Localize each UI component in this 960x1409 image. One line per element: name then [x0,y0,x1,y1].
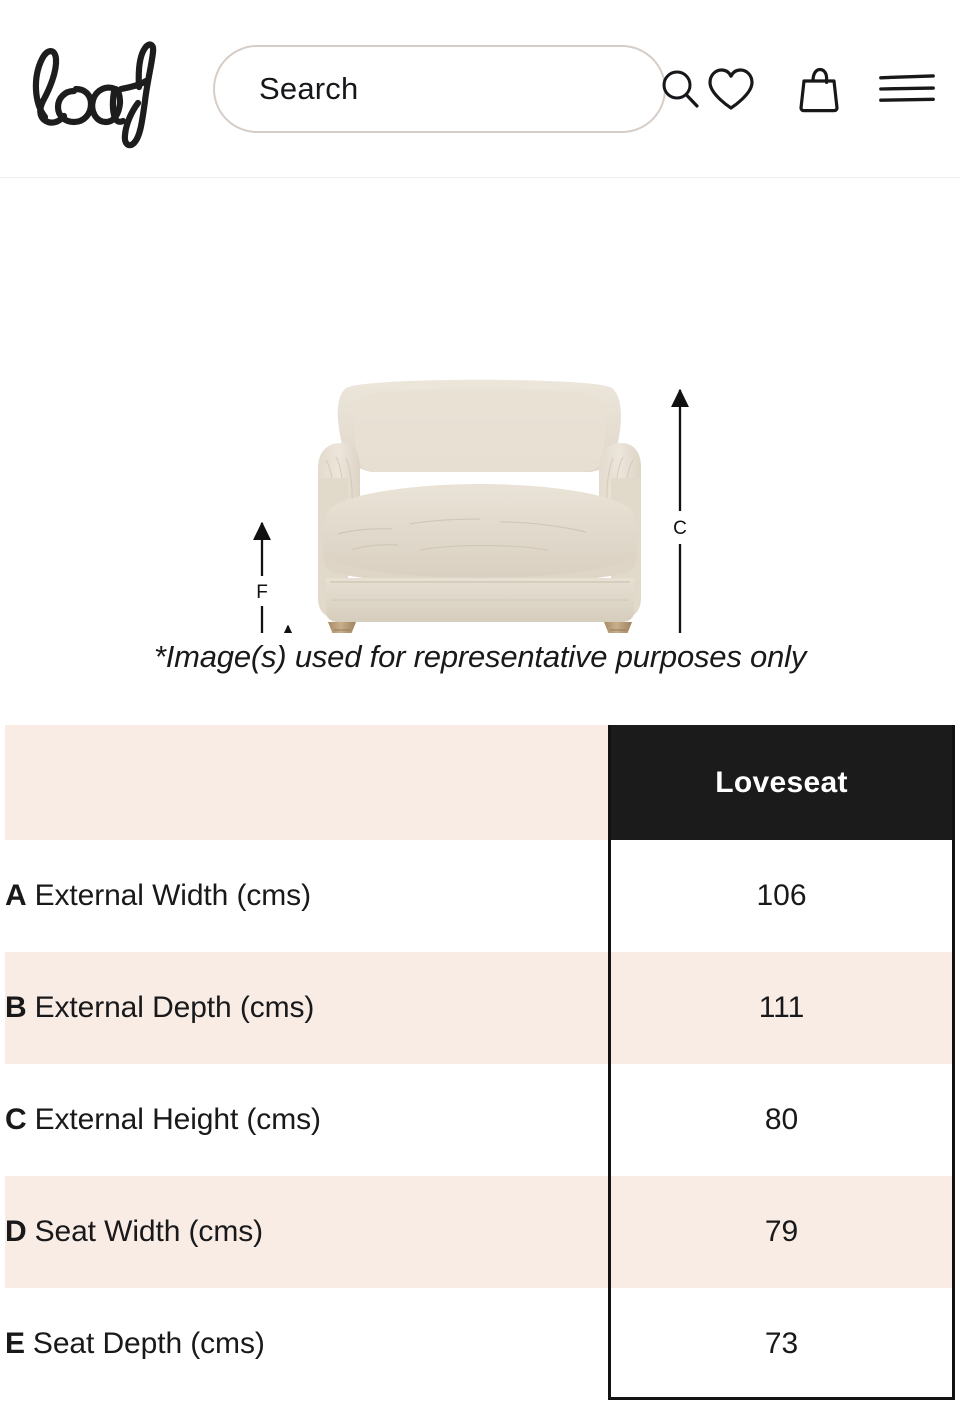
dimension-label-c: C [673,518,687,539]
row-value-e: 73 [608,1288,955,1400]
row-text-e: Seat Depth (cms) [33,1327,265,1360]
row-label-d: DSeat Width (cms) [5,1176,608,1288]
dimension-diagram-section: C F I G D A [0,178,960,633]
logo-link[interactable] [18,27,158,151]
row-key-e: E [5,1327,25,1360]
loaf-logo [18,31,158,151]
row-text-c: External Height (cms) [35,1103,321,1136]
wishlist-button[interactable] [702,60,760,118]
table-row: ESeat Depth (cms) 73 [5,1288,955,1400]
shopping-bag-icon [793,63,845,115]
table-header-row: Loveseat [5,725,955,840]
dimensions-table-wrapper: Loveseat AExternal Width (cms) 106 BExte… [5,725,955,1400]
row-label-c: CExternal Height (cms) [5,1064,608,1176]
table-header-loveseat: Loveseat [608,725,955,840]
table-row: DSeat Width (cms) 79 [5,1176,955,1288]
row-label-a: AExternal Width (cms) [5,840,608,952]
hamburger-menu-icon [878,67,936,111]
row-value-c: 80 [608,1064,955,1176]
chair-leg-left [328,622,356,633]
row-text-d: Seat Width (cms) [35,1215,263,1248]
menu-button[interactable] [878,60,936,118]
representative-image-note: *Image(s) used for representative purpos… [0,633,960,675]
basket-button[interactable] [790,60,848,118]
table-row: AExternal Width (cms) 106 [5,840,955,952]
table-row: BExternal Depth (cms) 111 [5,952,955,1064]
header-actions [702,60,938,118]
dimensions-table-body: AExternal Width (cms) 106 BExternal Dept… [5,840,955,1400]
row-value-d: 79 [608,1176,955,1288]
row-key-d: D [5,1215,27,1248]
search-box[interactable] [213,45,666,133]
row-value-a: 106 [608,840,955,952]
dimension-label-i: I [286,631,291,633]
dimensions-table: Loveseat AExternal Width (cms) 106 BExte… [5,725,955,1400]
table-header-blank [5,725,608,840]
dimensions-table-head: Loveseat [5,725,955,840]
heart-icon [705,65,757,113]
loveseat-illustration [318,380,641,633]
row-key-c: C [5,1103,27,1136]
loveseat-dimension-diagram: C F I G D A [0,178,960,633]
row-text-a: External Width (cms) [35,879,311,912]
row-value-b: 111 [608,952,955,1064]
search-icon[interactable] [658,67,702,111]
row-text-b: External Depth (cms) [35,991,315,1024]
table-row: CExternal Height (cms) 80 [5,1064,955,1176]
row-key-a: A [5,879,27,912]
row-label-b: BExternal Depth (cms) [5,952,608,1064]
search-input[interactable] [259,71,658,107]
site-header [0,0,960,178]
row-label-e: ESeat Depth (cms) [5,1288,608,1400]
chair-leg-right [604,622,632,633]
row-key-b: B [5,991,27,1024]
dimension-label-f: F [256,582,268,603]
